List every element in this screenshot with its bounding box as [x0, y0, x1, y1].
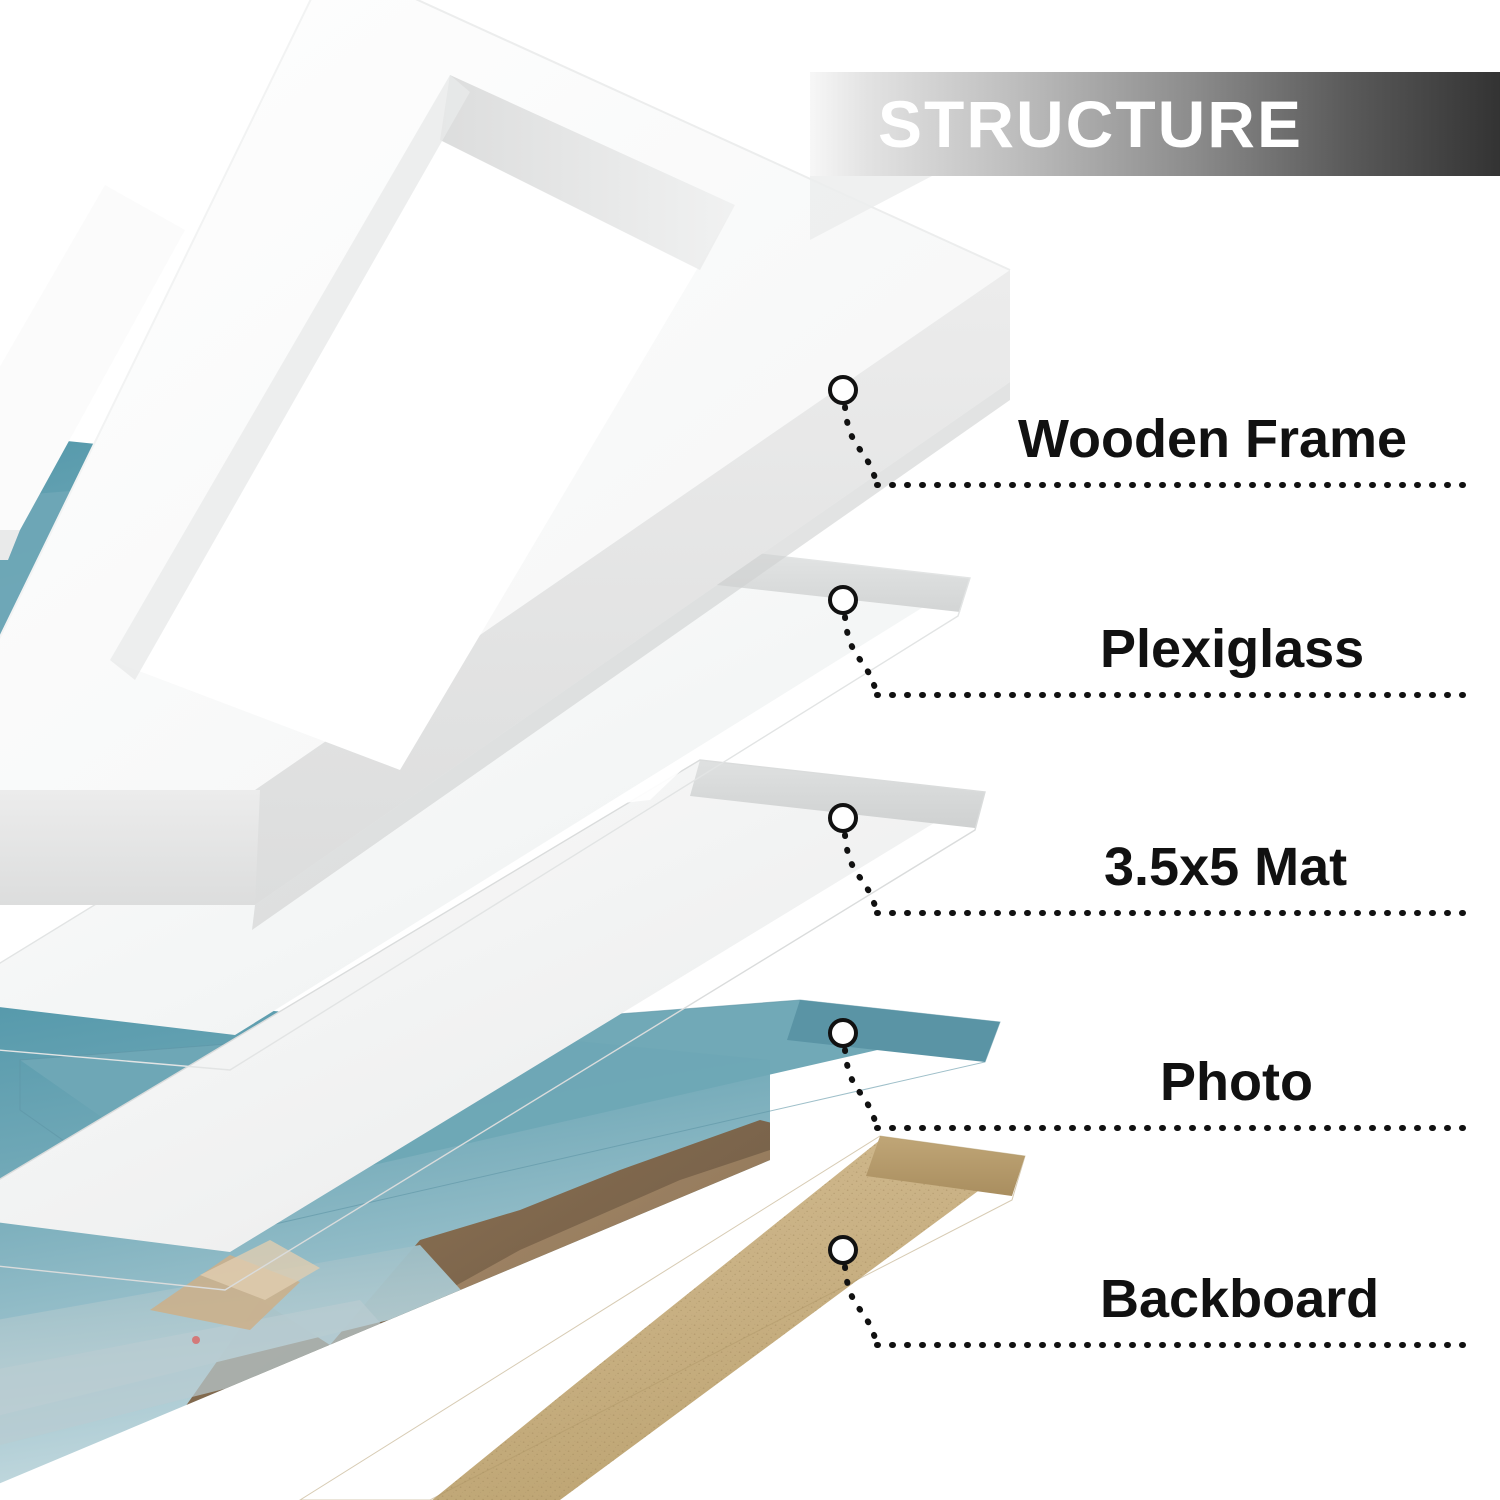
callout-label-backboard: Backboard [1100, 1272, 1379, 1326]
infographic-canvas: STRUCTURE Wooden FramePlexiglass3.5x5 Ma… [0, 0, 1500, 1500]
callout-marker-backboard[interactable] [828, 1235, 858, 1265]
